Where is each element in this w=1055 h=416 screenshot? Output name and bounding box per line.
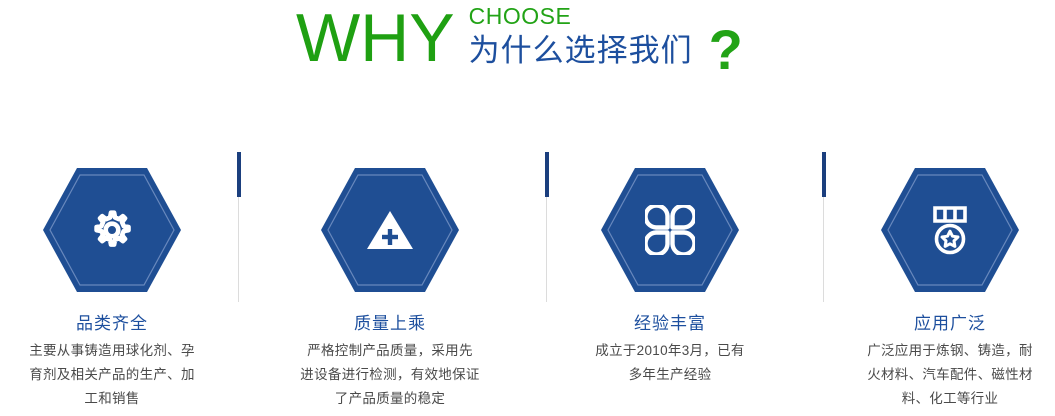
heading-inner: WHY CHOOSE 为什么选择我们 ?: [296, 0, 743, 78]
desc-line: 严格控制产品质量，采用先: [284, 339, 496, 363]
desc-line: 了产品质量的稳定: [284, 387, 496, 411]
icon-layer-3: [600, 167, 740, 293]
desc-line: 成立于2010年3月，已有: [564, 339, 776, 363]
desc-line: 多年生产经验: [564, 363, 776, 387]
clover-icon: [645, 205, 695, 255]
desc-line: 主要从事铸造用球化剂、孕: [6, 339, 218, 363]
medal-icon: [926, 202, 974, 258]
card-description: 严格控制产品质量，采用先 进设备进行检测，有效地保证 了产品质量的稳定: [278, 339, 502, 411]
feature-card-4[interactable]: 应用广泛 广泛应用于炼钢、铸造，耐 火材料、汽车配件、磁性材 料、化工等行业: [838, 150, 1055, 411]
hexagon-badge-1: [42, 167, 182, 293]
hexagon-badge-2: [320, 167, 460, 293]
heading-question-mark: ?: [709, 22, 743, 78]
heading-text-stack: CHOOSE 为什么选择我们: [469, 4, 693, 70]
heading-why-word: WHY: [296, 2, 455, 74]
gear-icon: [86, 204, 138, 256]
heading-chinese-title: 为什么选择我们: [469, 32, 693, 70]
desc-line: 火材料、汽车配件、磁性材: [844, 363, 1055, 387]
card-title: 质量上乘: [278, 313, 502, 335]
card-title: 应用广泛: [838, 313, 1055, 335]
hexagon-badge-3: [600, 167, 740, 293]
feature-card-1[interactable]: 品类齐全 主要从事铸造用球化剂、孕 育剂及相关产品的生产、加 工和销售: [0, 150, 224, 411]
heading-choose-word: CHOOSE: [469, 4, 693, 29]
feature-card-3[interactable]: 经验丰富 成立于2010年3月，已有 多年生产经验: [558, 150, 782, 387]
feature-card-2[interactable]: 质量上乘 严格控制产品质量，采用先 进设备进行检测，有效地保证 了产品质量的稳定: [278, 150, 502, 411]
card-title: 经验丰富: [558, 313, 782, 335]
icon-layer-1: [42, 167, 182, 293]
feature-cards-row: 品类齐全 主要从事铸造用球化剂、孕 育剂及相关产品的生产、加 工和销售: [0, 150, 1055, 416]
desc-line: 进设备进行检测，有效地保证: [284, 363, 496, 387]
card-description: 成立于2010年3月，已有 多年生产经验: [558, 339, 782, 387]
desc-line: 料、化工等行业: [844, 387, 1055, 411]
why-choose-us-section: WHY CHOOSE 为什么选择我们 ?: [0, 0, 1055, 416]
triangle-plus-icon: [362, 205, 418, 255]
desc-line: 育剂及相关产品的生产、加: [6, 363, 218, 387]
icon-layer-2: [320, 167, 460, 293]
desc-line: 工和销售: [6, 387, 218, 411]
icon-layer-4: [880, 167, 1020, 293]
hexagon-badge-4: [880, 167, 1020, 293]
card-description: 主要从事铸造用球化剂、孕 育剂及相关产品的生产、加 工和销售: [0, 339, 224, 411]
card-description: 广泛应用于炼钢、铸造，耐 火材料、汽车配件、磁性材 料、化工等行业: [838, 339, 1055, 411]
section-heading: WHY CHOOSE 为什么选择我们 ?: [0, 0, 1055, 95]
desc-line: 广泛应用于炼钢、铸造，耐: [844, 339, 1055, 363]
card-title: 品类齐全: [0, 313, 224, 335]
